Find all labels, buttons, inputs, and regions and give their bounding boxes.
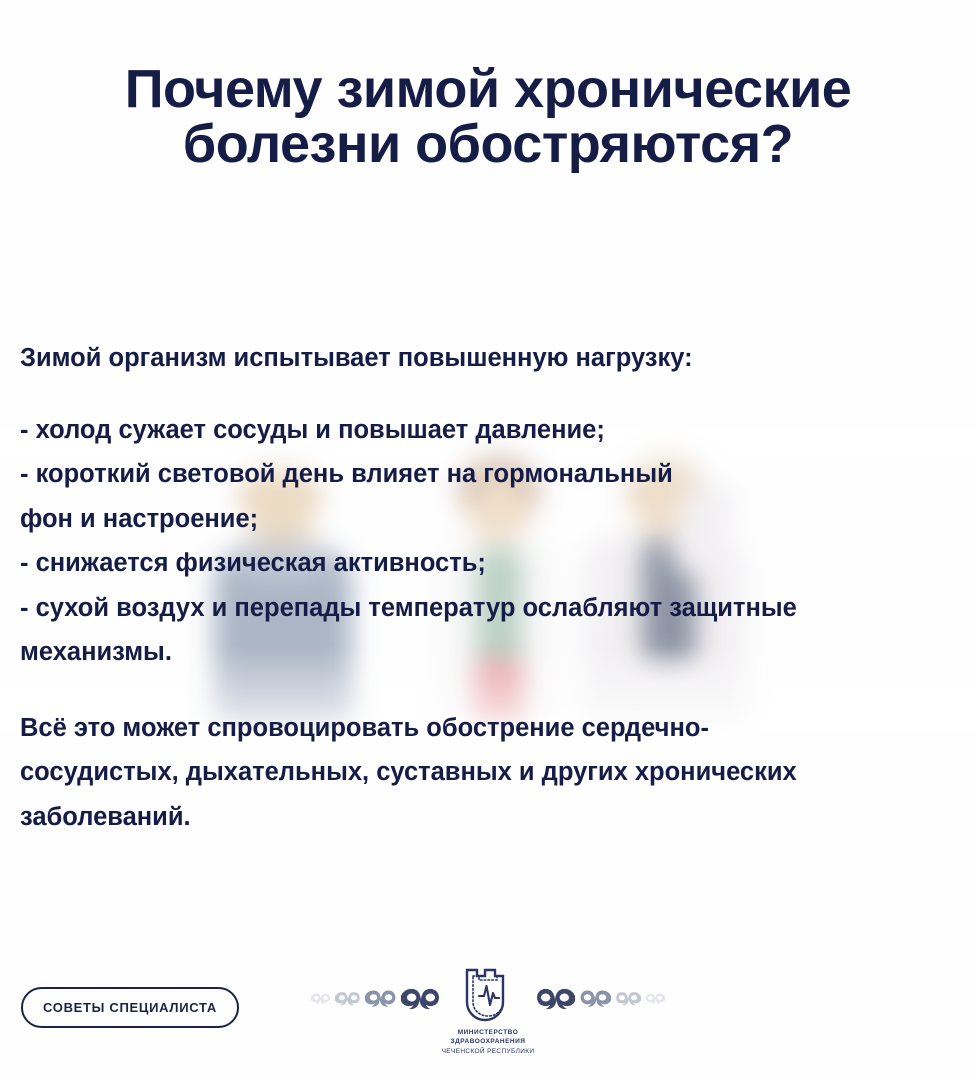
body-bullet-3: - снижается физическая активность; bbox=[20, 551, 964, 577]
ministry-logo: МИНИСТЕРСТВО ЗДРАВООХРАНЕНИЯ ЧЕЧЕНСКОЙ Р… bbox=[0, 966, 976, 1056]
body-bullet-4: - сухой воздух и перепады температур осл… bbox=[20, 596, 964, 622]
ministry-line-2: ЗДРАВООХРАНЕНИЯ bbox=[442, 1037, 535, 1046]
page-title: Почему зимой хронические болезни обостря… bbox=[0, 62, 976, 172]
page-title-line-1: Почему зимой хронические bbox=[125, 59, 852, 119]
body-closing-line-3: заболеваний. bbox=[20, 805, 964, 831]
body-bullet-2: - короткий световой день влияет на гормо… bbox=[20, 462, 964, 488]
body-closing-line-2: сосудистых, дыхательных, суставных и дру… bbox=[20, 760, 964, 786]
body-text: Зимой организм испытывает повышенную наг… bbox=[20, 346, 964, 849]
body-closing-line-1: Всё это может спровоцировать обострение … bbox=[20, 716, 964, 742]
body-bullet-2-cont: фон и настроение; bbox=[20, 507, 964, 533]
ministry-wordmark: МИНИСТЕРСТВО ЗДРАВООХРАНЕНИЯ ЧЕЧЕНСКОЙ Р… bbox=[442, 1028, 535, 1056]
page-title-line-2: болезни обостряются? bbox=[34, 117, 942, 172]
ministry-emblem-icon bbox=[461, 966, 515, 1024]
poster-root: Почему зимой хронические болезни обостря… bbox=[0, 0, 976, 1080]
ministry-line-1: МИНИСТЕРСТВО bbox=[442, 1028, 535, 1037]
body-bullet-1: - холод сужает сосуды и повышает давлени… bbox=[20, 418, 964, 444]
body-lead: Зимой организм испытывает повышенную наг… bbox=[20, 346, 964, 372]
body-closing: Всё это может спровоцировать обострение … bbox=[20, 716, 964, 831]
ministry-line-3: ЧЕЧЕНСКОЙ РЕСПУБЛИКИ bbox=[442, 1047, 535, 1056]
footer: СОВЕТЫ СПЕЦИАЛИСТА bbox=[0, 950, 976, 1080]
body-bullet-4-cont: механизмы. bbox=[20, 640, 964, 666]
